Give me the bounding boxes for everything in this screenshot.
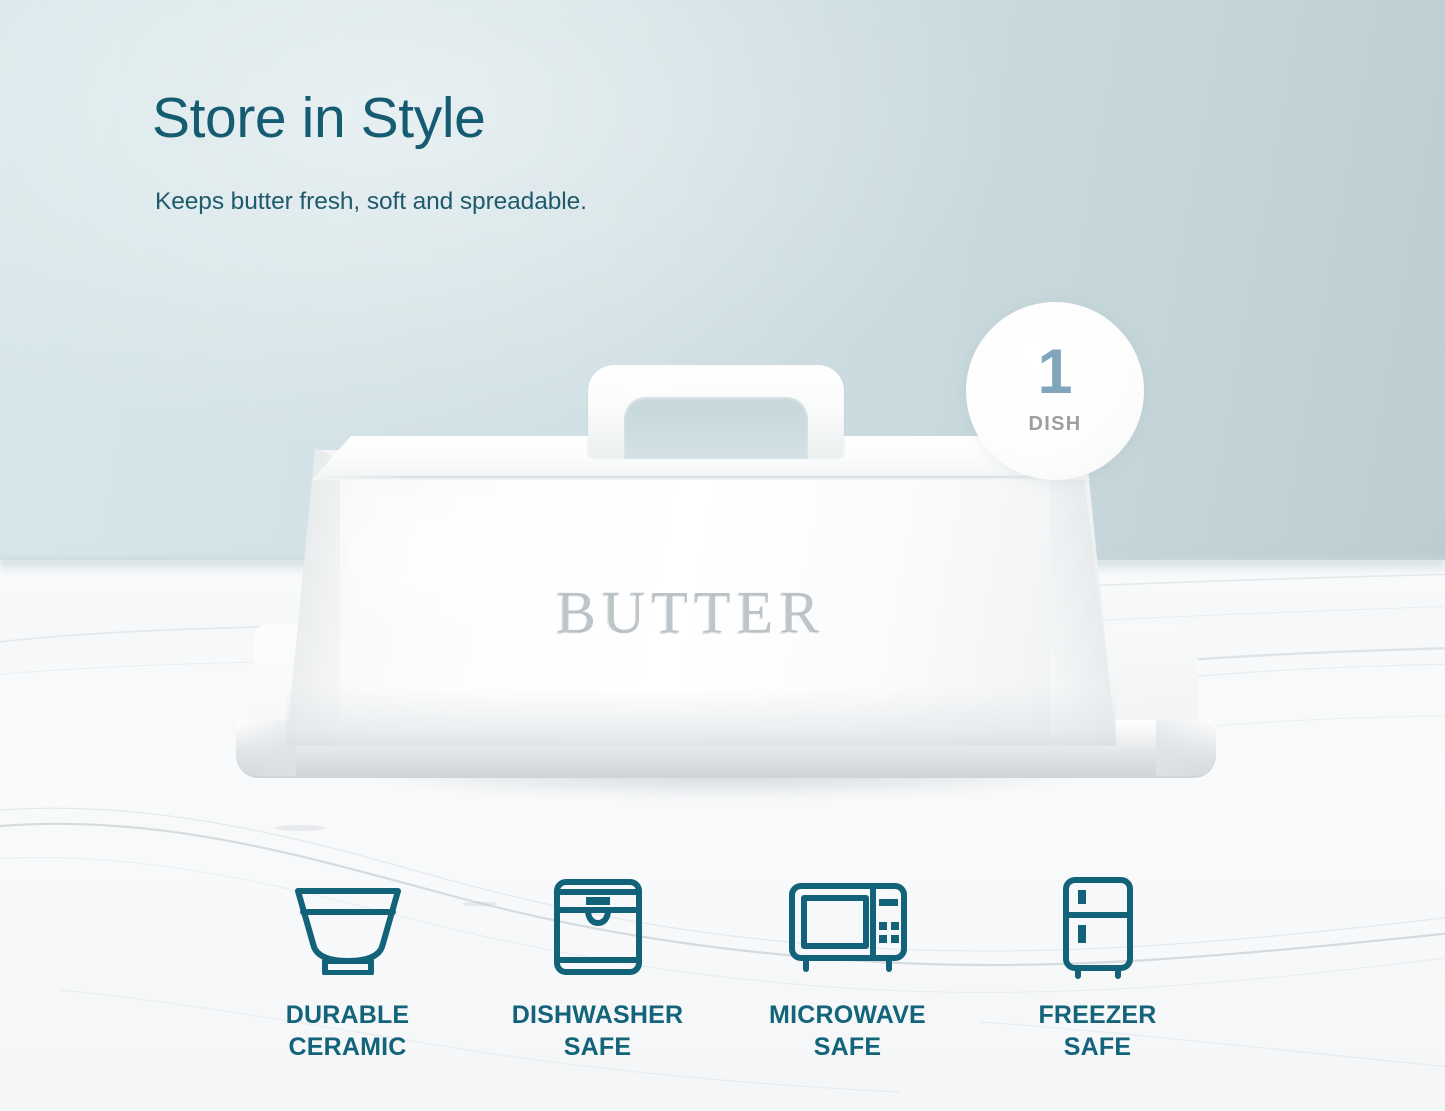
product-lifestyle-image: Store in Style Keeps butter fresh, soft …	[0, 0, 1445, 1111]
page-subtitle: Keeps butter fresh, soft and spreadable.	[155, 186, 587, 218]
feature-label: FREEZER SAFE	[1038, 999, 1156, 1063]
feature-label: MICROWAVE SAFE	[769, 999, 926, 1063]
feature-label-line1: DURABLE	[286, 999, 410, 1031]
badge-unit-label: DISH	[1029, 413, 1082, 436]
feature-label: DISHWASHER SAFE	[512, 999, 683, 1063]
feature-dishwasher-safe: DISHWASHER SAFE	[509, 875, 687, 1063]
feature-microwave-safe: MICROWAVE SAFE	[759, 875, 937, 1063]
badge-count: 1	[1037, 341, 1072, 404]
feature-freezer-safe: FREEZER SAFE	[1009, 875, 1187, 1063]
feature-durable-ceramic: DURABLE CERAMIC	[259, 875, 437, 1063]
feature-icon-row: DURABLE CERAMIC DISHWASH	[0, 875, 1445, 1063]
feature-label-line2: CERAMIC	[286, 1031, 410, 1063]
feature-label-line1: DISHWASHER	[512, 999, 683, 1031]
dishwasher-icon	[548, 875, 648, 979]
microwave-icon	[785, 875, 911, 979]
feature-label-line2: SAFE	[769, 1031, 926, 1063]
page-title: Store in Style	[152, 88, 485, 150]
refrigerator-icon	[1056, 875, 1140, 979]
quantity-badge: 1 DISH	[966, 302, 1144, 480]
feature-label-line2: SAFE	[1038, 1031, 1156, 1063]
feature-label-line1: FREEZER	[1038, 999, 1156, 1031]
bowl-icon	[289, 875, 407, 979]
feature-label-line2: SAFE	[512, 1031, 683, 1063]
feature-label: DURABLE CERAMIC	[286, 999, 410, 1063]
feature-label-line1: MICROWAVE	[769, 999, 926, 1031]
